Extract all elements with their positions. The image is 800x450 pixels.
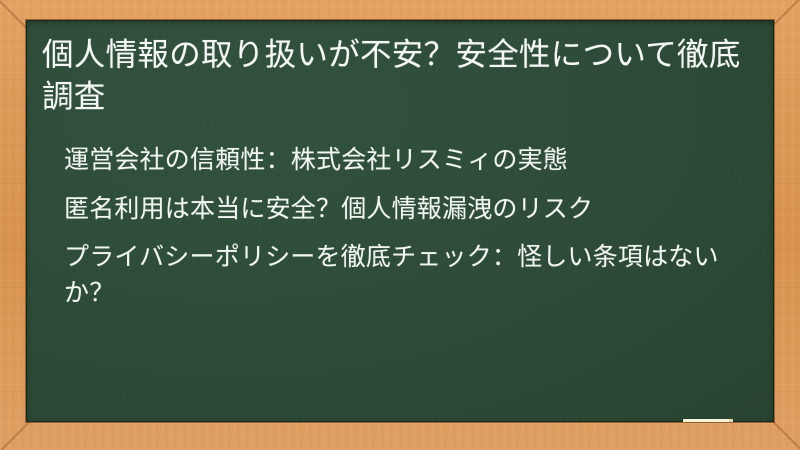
list-item: 運営会社の信頼性：株式会社リスミィの実態 (64, 142, 732, 178)
board-content: 個人情報の取り扱いが不安？安全性について徹底調査 運営会社の信頼性：株式会社リス… (26, 20, 774, 310)
page-title: 個人情報の取り扱いが不安？安全性について徹底調査 (42, 34, 742, 118)
list-item: プライバシーポリシーを徹底チェック：怪しい条項はないか？ (64, 239, 732, 310)
list-item: 匿名利用は本当に安全？個人情報漏洩のリスク (64, 191, 732, 227)
chalk-stick-icon (683, 419, 733, 422)
topic-list: 運営会社の信頼性：株式会社リスミィの実態 匿名利用は本当に安全？個人情報漏洩のリ… (40, 142, 760, 310)
chalkboard-surface: 個人情報の取り扱いが不安？安全性について徹底調査 運営会社の信頼性：株式会社リス… (26, 20, 774, 422)
blackboard-scene: 個人情報の取り扱いが不安？安全性について徹底調査 運営会社の信頼性：株式会社リス… (0, 0, 800, 450)
